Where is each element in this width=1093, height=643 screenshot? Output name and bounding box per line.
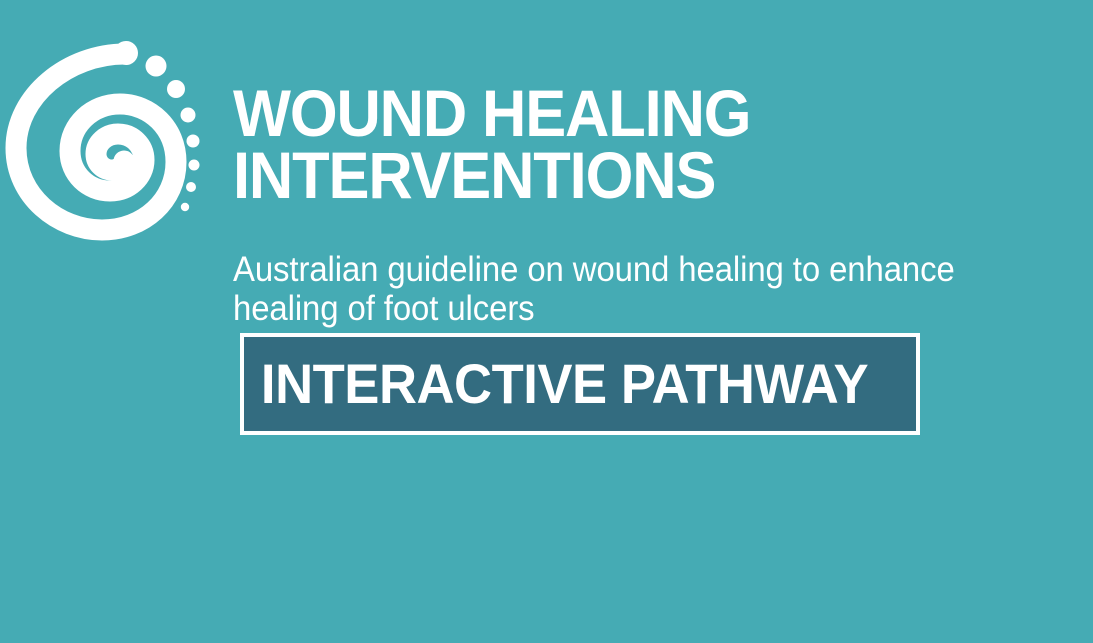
logo-dot-2 [146,56,167,77]
interactive-pathway-button-label: INTERACTIVE PATHWAY [244,356,868,412]
page-subtitle: Australian guideline on wound healing to… [233,250,1023,328]
page-title-line-2: INTERVENTIONS [233,144,1014,206]
logo-dot-5 [187,135,200,148]
interactive-pathway-button[interactable]: INTERACTIVE PATHWAY [240,333,920,435]
header: WOUND HEALING INTERVENTIONS Australian g… [233,38,1073,363]
logo-dot-3 [167,80,185,98]
page-title: WOUND HEALING INTERVENTIONS [233,82,1014,206]
page-title-line-1: WOUND HEALING [233,82,1014,144]
logo-dot-4 [181,108,196,123]
logo-dot-8 [181,203,189,211]
logo-dot-6 [189,160,200,171]
page-root: WOUND HEALING INTERVENTIONS Australian g… [0,0,1093,643]
logo-dot-1 [114,41,138,65]
spiral-logo-icon [8,34,204,234]
logo [8,34,204,234]
logo-dot-7 [186,182,196,192]
spiral-path [16,54,176,230]
